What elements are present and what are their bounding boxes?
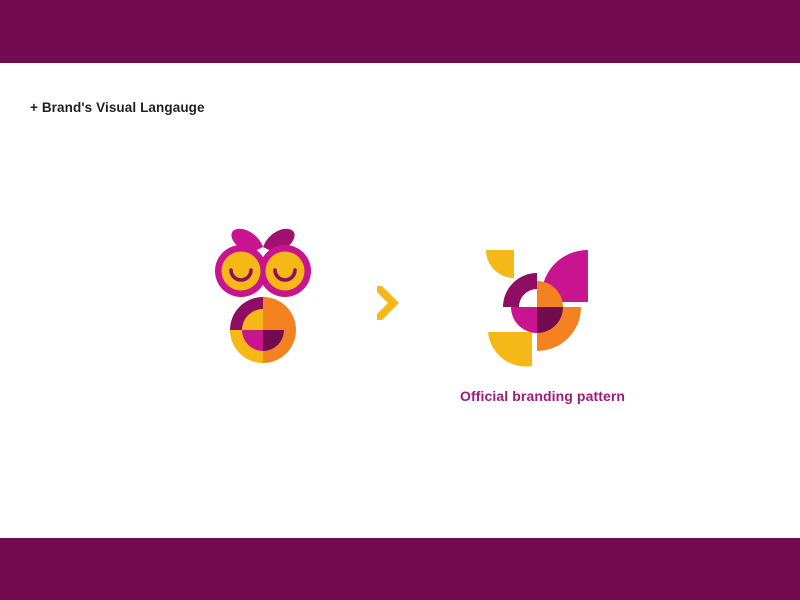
pattern-quarter-circle-bottom-left	[488, 332, 532, 367]
pattern-caption: Official branding pattern	[460, 388, 720, 404]
owl-logo-graphic	[213, 225, 313, 365]
official-branding-pattern	[474, 244, 600, 370]
top-band	[0, 0, 800, 63]
chevron-right-path	[377, 286, 399, 320]
page-title: + Brand's Visual Langauge	[30, 100, 205, 115]
branding-pattern-graphic	[474, 244, 600, 370]
pattern-quarter-circle-top-left	[486, 250, 514, 278]
chevron-right-icon	[372, 283, 404, 323]
pattern-center-disc-bottom-left	[511, 307, 537, 333]
chevron-right-glyph	[372, 283, 404, 323]
bottom-band	[0, 538, 800, 600]
slide-canvas: + Brand's Visual Langauge	[0, 0, 800, 600]
owl-eye-right	[266, 252, 305, 291]
owl-logo	[213, 225, 313, 365]
owl-eye-left	[222, 252, 261, 291]
owl-body	[230, 297, 296, 363]
